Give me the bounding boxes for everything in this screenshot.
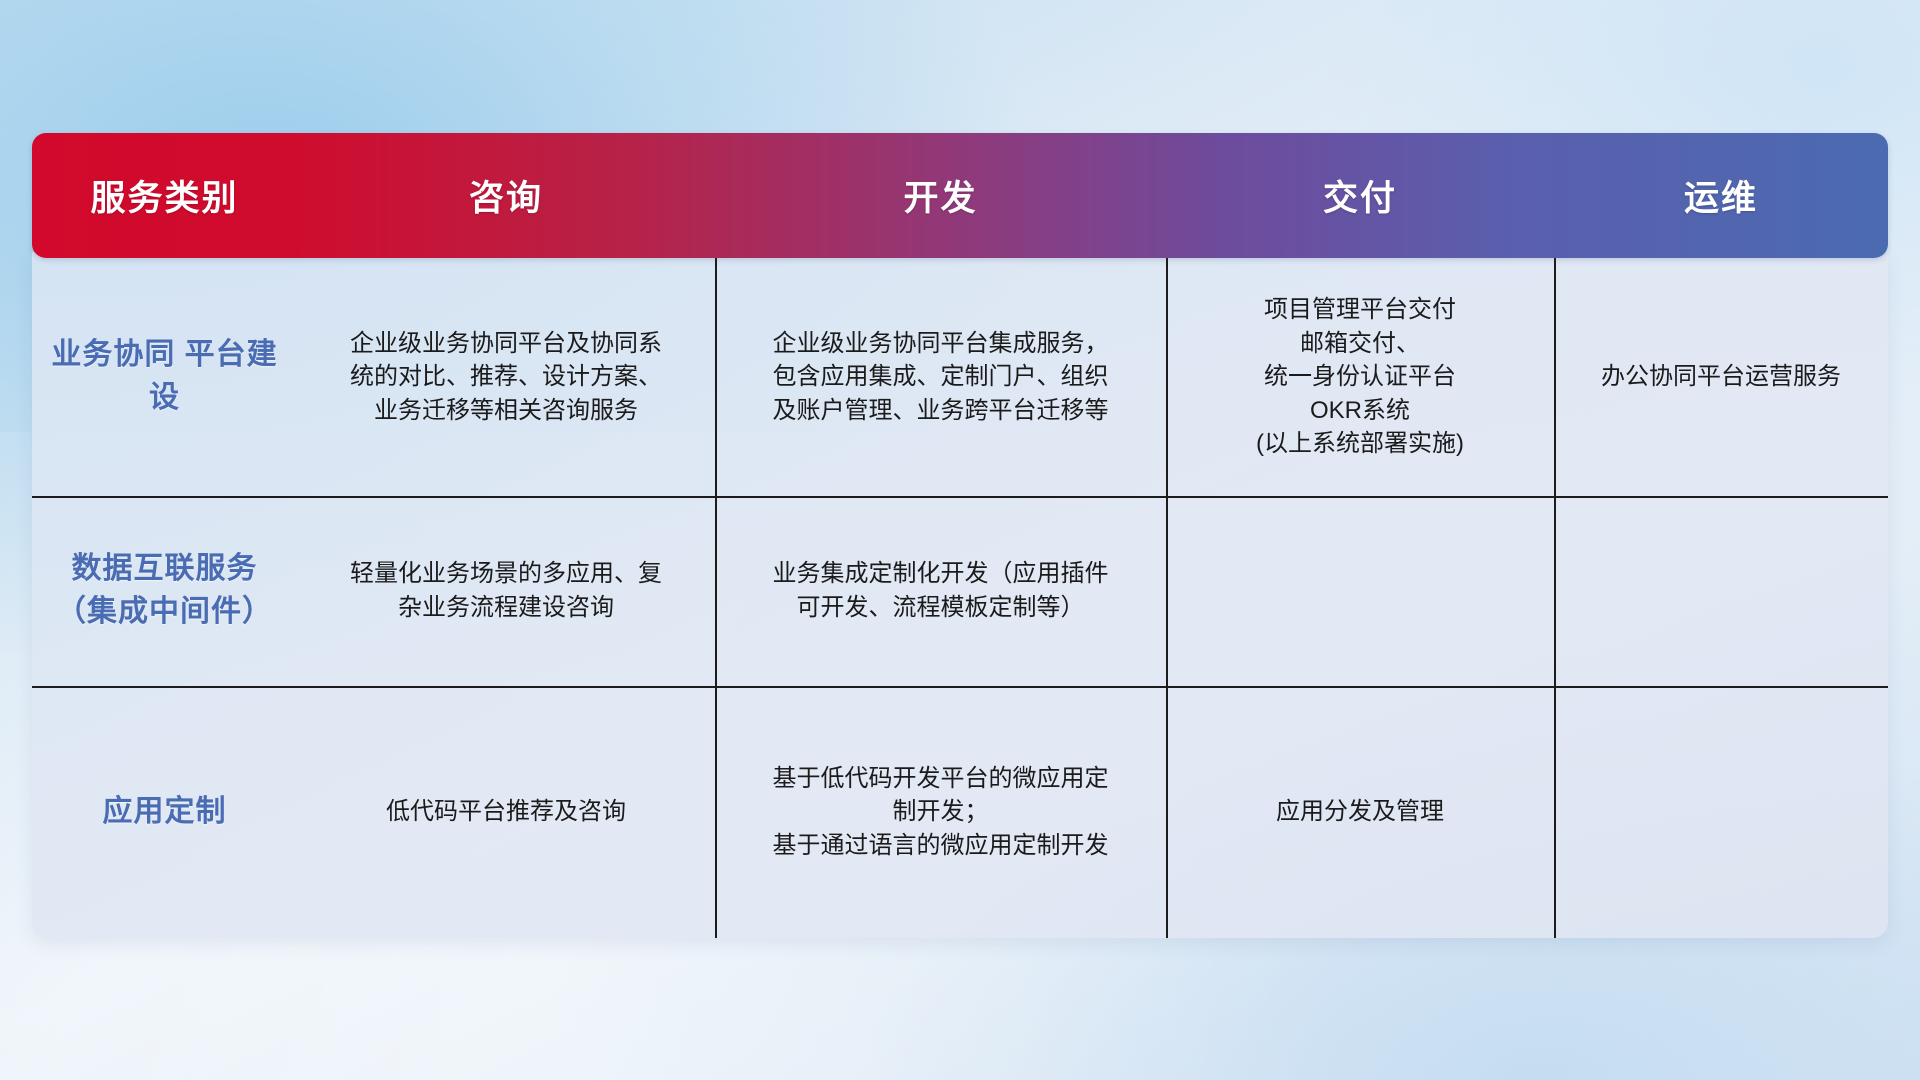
column-header-consulting: 咨询 xyxy=(297,170,715,221)
row-category-label: 业务协同 平台建设 xyxy=(46,334,283,419)
cell-text: 轻量化业务场景的多应用、复 杂业务流程建设咨询 xyxy=(350,557,662,624)
cell-delivery: 应用分发及管理 xyxy=(1166,686,1554,938)
column-header-delivery: 交付 xyxy=(1166,170,1554,221)
cell-development: 业务集成定制化开发（应用插件 可开发、流程模板定制等） xyxy=(715,496,1166,686)
service-matrix-table: 服务类别 咨询 开发 交付 运维 业务协同 平台建设 企业级业务协同平台及协同系… xyxy=(32,133,1888,938)
cell-category: 业务协同 平台建设 xyxy=(32,258,297,496)
cell-development: 基于低代码开发平台的微应用定 制开发； 基于通过语言的微应用定制开发 xyxy=(715,686,1166,938)
cell-text: 企业级业务协同平台集成服务， 包含应用集成、定制门户、组织 及账户管理、业务跨平… xyxy=(773,327,1109,428)
cell-operations: 办公协同平台运营服务 xyxy=(1554,258,1888,496)
table-row: 应用定制 低代码平台推荐及咨询 基于低代码开发平台的微应用定 制开发； 基于通过… xyxy=(32,686,1888,938)
cell-text: 办公协同平台运营服务 xyxy=(1601,360,1841,394)
cell-delivery: 项目管理平台交付 邮箱交付、 统一身份认证平台 OKR系统 (以上系统部署实施) xyxy=(1166,258,1554,496)
cell-consulting: 企业级业务协同平台及协同系 统的对比、推荐、设计方案、 业务迁移等相关咨询服务 xyxy=(297,258,715,496)
table-body: 业务协同 平台建设 企业级业务协同平台及协同系 统的对比、推荐、设计方案、 业务… xyxy=(32,252,1888,938)
slide-canvas: 服务类别 咨询 开发 交付 运维 业务协同 平台建设 企业级业务协同平台及协同系… xyxy=(0,0,1920,1080)
cell-operations xyxy=(1554,686,1888,938)
cell-text: 应用分发及管理 xyxy=(1276,795,1444,829)
column-header-operations: 运维 xyxy=(1554,170,1888,221)
cell-text: 基于低代码开发平台的微应用定 制开发； 基于通过语言的微应用定制开发 xyxy=(773,762,1109,863)
table-row: 数据互联服务 （集成中间件） 轻量化业务场景的多应用、复 杂业务流程建设咨询 业… xyxy=(32,496,1888,686)
cell-delivery xyxy=(1166,496,1554,686)
cell-development: 企业级业务协同平台集成服务， 包含应用集成、定制门户、组织 及账户管理、业务跨平… xyxy=(715,258,1166,496)
table-header-row: 服务类别 咨询 开发 交付 运维 xyxy=(32,133,1888,258)
cell-category: 数据互联服务 （集成中间件） xyxy=(32,496,297,686)
column-header-development: 开发 xyxy=(715,170,1166,221)
cell-consulting: 轻量化业务场景的多应用、复 杂业务流程建设咨询 xyxy=(297,496,715,686)
cell-text: 企业级业务协同平台及协同系 统的对比、推荐、设计方案、 业务迁移等相关咨询服务 xyxy=(350,327,662,428)
cell-text: 低代码平台推荐及咨询 xyxy=(386,795,626,829)
cell-consulting: 低代码平台推荐及咨询 xyxy=(297,686,715,938)
row-category-label: 数据互联服务 （集成中间件） xyxy=(46,548,283,633)
row-category-label: 应用定制 xyxy=(103,791,227,834)
table-row: 业务协同 平台建设 企业级业务协同平台及协同系 统的对比、推荐、设计方案、 业务… xyxy=(32,258,1888,496)
column-header-category: 服务类别 xyxy=(32,170,297,221)
cell-text: 业务集成定制化开发（应用插件 可开发、流程模板定制等） xyxy=(773,557,1109,624)
cell-category: 应用定制 xyxy=(32,686,297,938)
cell-operations xyxy=(1554,496,1888,686)
cell-text: 项目管理平台交付 邮箱交付、 统一身份认证平台 OKR系统 (以上系统部署实施) xyxy=(1256,293,1464,461)
